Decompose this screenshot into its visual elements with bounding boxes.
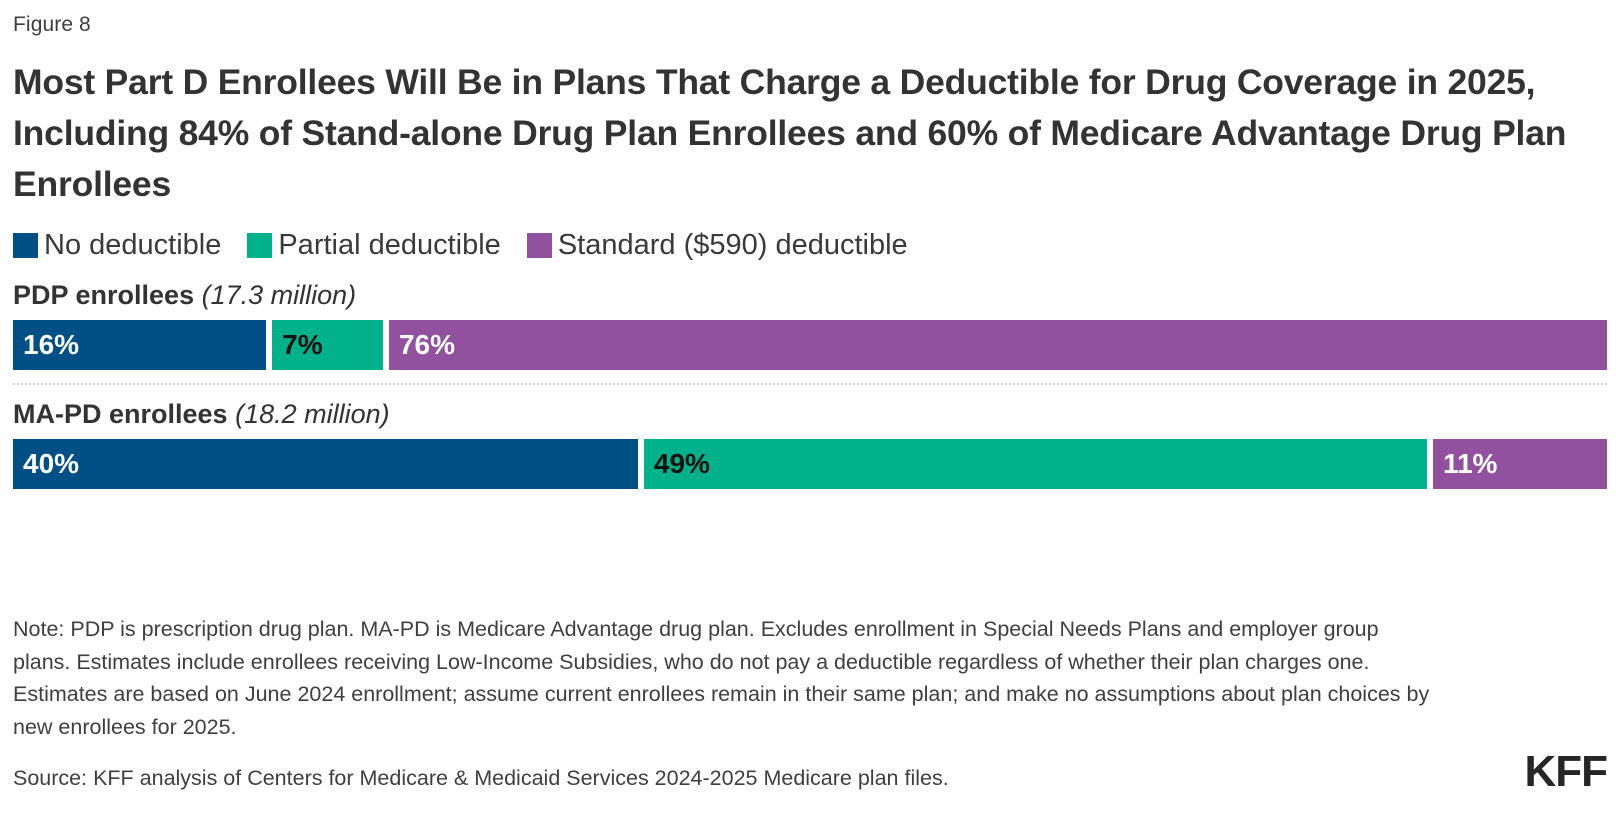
- stacked-bar-chart: PDP enrollees (17.3 million) 16% 7% 76% …: [13, 282, 1607, 489]
- bar-segment-standard-deductible[interactable]: 76%: [389, 320, 1607, 370]
- figure-note: Note: PDP is prescription drug plan. MA-…: [13, 613, 1433, 744]
- bar-segment-standard-deductible[interactable]: 11%: [1433, 439, 1607, 489]
- legend-label: No deductible: [44, 231, 221, 260]
- row-total: (17.3 million): [202, 280, 357, 310]
- row-label-mapd: MA-PD enrollees (18.2 million): [13, 401, 1607, 428]
- legend-item-standard-deductible[interactable]: Standard ($590) deductible: [527, 231, 908, 260]
- bar-segment-no-deductible[interactable]: 40%: [13, 439, 638, 489]
- chart-row-pdp: PDP enrollees (17.3 million) 16% 7% 76%: [13, 282, 1607, 385]
- legend-swatch-icon: [247, 233, 272, 258]
- bar-segment-value: 76%: [399, 331, 455, 359]
- legend-item-partial-deductible[interactable]: Partial deductible: [247, 231, 500, 260]
- legend-label: Standard ($590) deductible: [558, 231, 908, 260]
- legend-swatch-icon: [527, 233, 552, 258]
- chart-row-mapd: MA-PD enrollees (18.2 million) 40% 49% 1…: [13, 401, 1607, 489]
- page-title: Most Part D Enrollees Will Be in Plans T…: [13, 57, 1573, 209]
- row-label-pdp: PDP enrollees (17.3 million): [13, 282, 1607, 309]
- legend-label: Partial deductible: [278, 231, 500, 260]
- bar-segment-value: 49%: [654, 450, 710, 478]
- chart-legend: No deductible Partial deductible Standar…: [13, 231, 1607, 260]
- legend-swatch-icon: [13, 233, 38, 258]
- row-divider: [13, 383, 1607, 385]
- bar-segment-value: 7%: [282, 331, 322, 359]
- bar-segment-value: 11%: [1443, 450, 1498, 478]
- bar-segment-value: 16%: [23, 331, 79, 359]
- kff-logo: KFF: [1524, 750, 1607, 794]
- row-total: (18.2 million): [235, 399, 390, 429]
- row-category: MA-PD enrollees: [13, 399, 228, 429]
- bar-pdp: 16% 7% 76%: [13, 320, 1607, 370]
- figure-label: Figure 8: [13, 0, 1607, 35]
- bar-mapd: 40% 49% 11%: [13, 439, 1607, 489]
- bar-segment-value: 40%: [23, 450, 79, 478]
- bar-segment-partial-deductible[interactable]: 7%: [272, 320, 383, 370]
- legend-item-no-deductible[interactable]: No deductible: [13, 231, 221, 260]
- bar-segment-partial-deductible[interactable]: 49%: [644, 439, 1427, 489]
- figure-container: Figure 8 Most Part D Enrollees Will Be i…: [0, 0, 1620, 814]
- row-category: PDP enrollees: [13, 280, 194, 310]
- bar-segment-no-deductible[interactable]: 16%: [13, 320, 266, 370]
- figure-footer: Note: PDP is prescription drug plan. MA-…: [13, 613, 1607, 794]
- figure-source: Source: KFF analysis of Centers for Medi…: [13, 762, 1607, 794]
